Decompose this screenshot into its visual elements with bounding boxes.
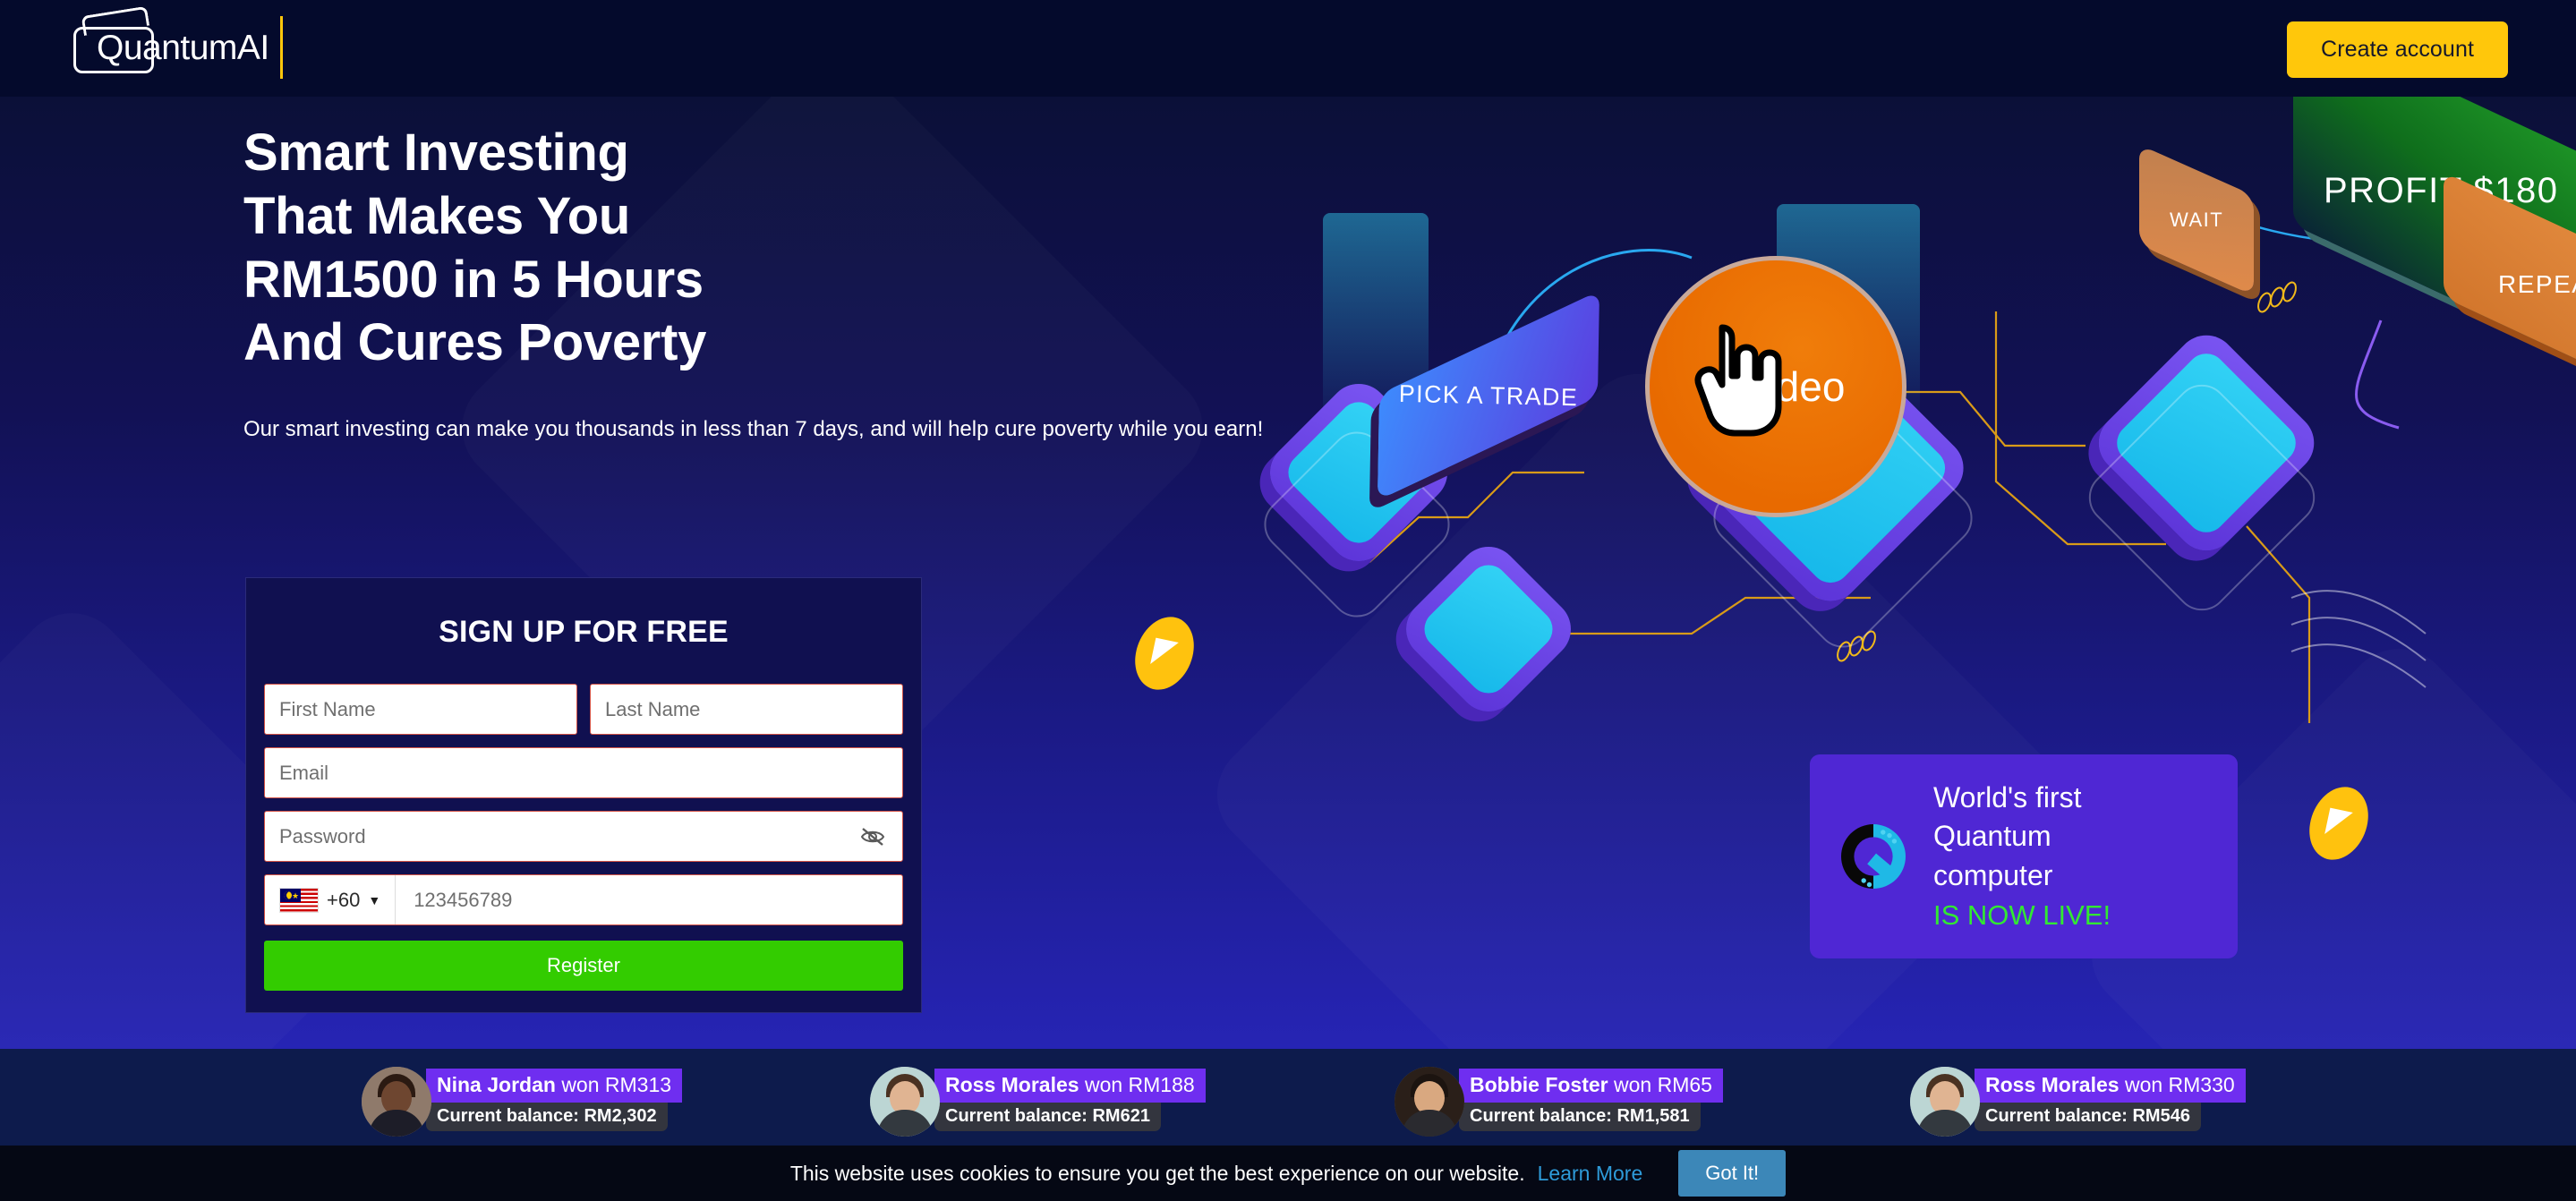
quantum-computer-badge: World's first Quantum computer IS NOW LI…: [1810, 754, 2238, 958]
ticker-texts: Ross Morales won RM188 Current balance: …: [934, 1054, 1206, 1131]
ticker-item: Nina Jordan won RM313 Current balance: R…: [362, 1054, 682, 1137]
ticker-texts: Bobbie Foster won RM65 Current balance: …: [1459, 1054, 1723, 1131]
brand-logo[interactable]: QuantumAI: [73, 18, 159, 73]
name-row: First Name Last Name: [264, 684, 903, 735]
first-name-placeholder: First Name: [279, 698, 376, 721]
badge-line-3: computer: [1933, 856, 2111, 896]
phone-input[interactable]: ★ +60 ▼ 123456789: [264, 874, 903, 925]
balance-pill: Current balance: RM2,302: [426, 1103, 668, 1131]
winner-name: Ross Morales: [945, 1073, 1079, 1096]
email-placeholder: Email: [279, 762, 328, 785]
win-pill: Bobbie Foster won RM65: [1459, 1069, 1723, 1103]
badge-line-1: World's first: [1933, 779, 2111, 818]
profit-label: PROFIT $180: [2324, 170, 2559, 210]
wait-card: WAIT: [2139, 145, 2254, 296]
balance-pill: Current balance: RM546: [1975, 1103, 2201, 1131]
chevron-down-icon: ▼: [368, 893, 380, 907]
site-header: QuantumAI Create account: [0, 0, 2576, 97]
winner-name: Bobbie Foster: [1470, 1073, 1608, 1096]
phone-placeholder: 123456789: [396, 889, 512, 912]
last-name-input[interactable]: Last Name: [590, 684, 903, 735]
balance-pill: Current balance: RM1,581: [1459, 1103, 1701, 1131]
wallet-icon: QuantumAI: [73, 18, 159, 73]
win-pill: Ross Morales won RM188: [934, 1069, 1206, 1103]
ticker-item: Ross Morales won RM330 Current balance: …: [1910, 1054, 2246, 1137]
winners-ticker: Nina Jordan won RM313 Current balance: R…: [0, 1049, 2576, 1146]
win-pill: Nina Jordan won RM313: [426, 1069, 682, 1103]
header-divider: [280, 16, 283, 79]
avatar: [870, 1067, 940, 1137]
last-name-placeholder: Last Name: [605, 698, 700, 721]
winner-amount: won RM65: [1614, 1073, 1712, 1096]
avatar: [362, 1067, 431, 1137]
badge-live-label: IS NOW LIVE!: [1933, 897, 2111, 934]
ticker-item: Bobbie Foster won RM65 Current balance: …: [1395, 1054, 1723, 1137]
got-it-button[interactable]: Got It!: [1678, 1150, 1786, 1197]
quantum-q-icon: [1833, 816, 1914, 897]
avatar: [1910, 1067, 1980, 1137]
signup-form-card: SIGN UP FOR FREE First Name Last Name Em…: [245, 577, 922, 1013]
password-placeholder: Password: [279, 825, 366, 848]
winner-amount: won RM330: [2125, 1073, 2235, 1096]
ticker-texts: Ross Morales won RM330 Current balance: …: [1975, 1054, 2246, 1131]
badge-text: World's first Quantum computer IS NOW LI…: [1933, 779, 2111, 935]
page-title: Smart Investing That Makes You RM1500 in…: [243, 122, 1300, 375]
eye-off-icon[interactable]: [859, 826, 886, 848]
cookie-message: This website uses cookies to ensure you …: [790, 1162, 1525, 1186]
logo-text: QuantumAI: [97, 29, 269, 68]
hero-subtitle: Our smart investing can make you thousan…: [243, 414, 1300, 445]
winner-amount: won RM313: [561, 1073, 671, 1096]
first-name-input[interactable]: First Name: [264, 684, 577, 735]
pointer-hand-cursor: [1692, 320, 1790, 437]
create-account-button[interactable]: Create account: [2287, 21, 2508, 78]
email-input[interactable]: Email: [264, 747, 903, 798]
winner-amount: won RM188: [1085, 1073, 1195, 1096]
password-input[interactable]: Password: [264, 811, 903, 862]
malaysia-flag-icon: ★: [279, 888, 319, 913]
ticker-texts: Nina Jordan won RM313 Current balance: R…: [426, 1054, 682, 1131]
hero-illustration: PICK A TRADE WAIT PROFIT $180 REPEAT Vid…: [1190, 97, 2576, 1049]
win-pill: Ross Morales won RM330: [1975, 1069, 2246, 1103]
repeat-label: REPEAT: [2498, 270, 2576, 299]
winner-name: Nina Jordan: [437, 1073, 556, 1096]
winner-name: Ross Morales: [1985, 1073, 2120, 1096]
cookie-consent-bar: This website uses cookies to ensure you …: [0, 1146, 2576, 1201]
register-button[interactable]: Register: [264, 941, 903, 991]
phone-row: ★ +60 ▼ 123456789: [264, 874, 903, 925]
country-code-select[interactable]: ★ +60 ▼: [265, 875, 396, 924]
pick-a-trade-label: PICK A TRADE: [1399, 379, 1579, 412]
signup-title: SIGN UP FOR FREE: [246, 615, 921, 650]
avatar: [1395, 1067, 1464, 1137]
learn-more-link[interactable]: Learn More: [1538, 1162, 1643, 1186]
badge-line-2: Quantum: [1933, 817, 2111, 856]
wait-label: WAIT: [2170, 209, 2223, 232]
dial-code-label: +60: [327, 889, 360, 912]
ticker-item: Ross Morales won RM188 Current balance: …: [870, 1054, 1206, 1137]
landing-page: QuantumAI Create account Smart Investing…: [0, 0, 2576, 1201]
password-row: Password: [264, 811, 903, 862]
balance-pill: Current balance: RM621: [934, 1103, 1161, 1131]
signup-form: First Name Last Name Email Password: [246, 684, 921, 991]
email-row: Email: [264, 747, 903, 798]
hero-copy: Smart Investing That Makes You RM1500 in…: [243, 122, 1300, 445]
yellow-play-badge: [2299, 778, 2379, 868]
